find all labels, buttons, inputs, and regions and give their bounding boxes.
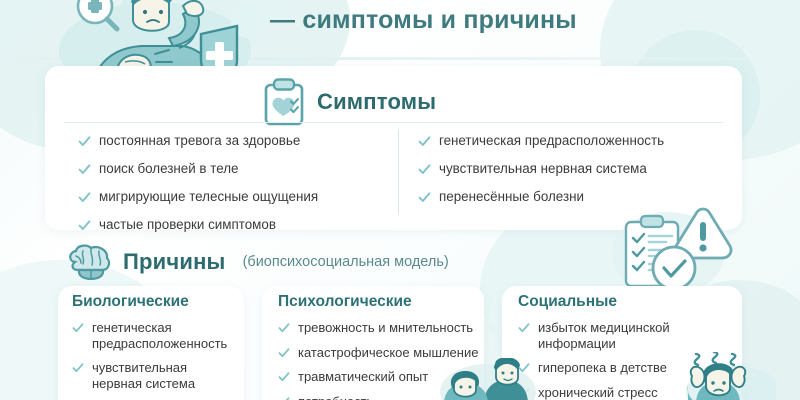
- causes-section-header: Причины (биопсихосоциальная модель): [66, 244, 449, 280]
- list-item: мигрирующие телесные ощущения: [78, 189, 378, 205]
- list-item: чувствительная нервная система: [72, 360, 238, 391]
- list-item-label: генетическая предрасположенность: [439, 133, 664, 149]
- check-icon: [278, 322, 290, 334]
- check-icon: [418, 163, 431, 176]
- check-icon: [72, 322, 84, 334]
- symptoms-column-divider: [398, 130, 399, 214]
- couple-illustration: [432, 358, 542, 400]
- check-icon: [78, 135, 91, 148]
- check-icon: [278, 371, 290, 383]
- infographic-canvas: Симптомы постоянная тревога за здоровье …: [0, 0, 800, 400]
- causes-column-title: Психологические: [278, 293, 483, 311]
- symptoms-left-list: постоянная тревога за здоровье поиск бол…: [78, 133, 378, 245]
- check-icon: [278, 347, 290, 359]
- list-item: тревожность и мнительность: [278, 320, 483, 336]
- list-item-label: поиск болезней в теле: [99, 161, 239, 177]
- check-icon: [78, 163, 91, 176]
- list-item: перенесённые болезни: [418, 189, 718, 205]
- symptoms-heading: Симптомы: [317, 89, 436, 115]
- list-item: частые проверки симптомов: [78, 217, 378, 233]
- clipboard-heart-icon: [262, 78, 306, 126]
- list-item: избыток медицинской информации: [518, 320, 736, 351]
- causes-column-title: Социальные: [518, 293, 736, 311]
- causes-column-title: Биологические: [72, 293, 238, 311]
- list-item-label: травматический опыт: [298, 369, 428, 385]
- symptoms-right-list: генетическая предрасположенность чувстви…: [418, 133, 718, 217]
- list-item-label: перенесённые болезни: [439, 189, 584, 205]
- list-item-label: чувствительная нервная система: [439, 161, 647, 177]
- causes-biological-content: Биологические генетическая предрасположе…: [72, 293, 238, 400]
- list-item-label: тревожность и мнительность: [298, 320, 473, 336]
- list-item-label: чувствительная нервная система: [92, 360, 238, 391]
- check-icon: [78, 191, 91, 204]
- check-icon: [78, 219, 91, 232]
- list-item: чувствительная нервная система: [418, 161, 718, 177]
- list-item: поиск болезней в теле: [78, 161, 378, 177]
- symptoms-section-header: Симптомы: [262, 78, 436, 126]
- symptoms-header-rule: [64, 122, 724, 123]
- list-item: постоянная тревога за здоровье: [78, 133, 378, 149]
- list-item-label: потребность: [298, 394, 373, 400]
- check-icon: [72, 362, 84, 374]
- causes-heading: Причины: [123, 249, 226, 275]
- list-item-label: постоянная тревога за здоровье: [99, 133, 300, 149]
- check-icon: [418, 191, 431, 204]
- list-item-label: мигрирующие телесные ощущения: [99, 189, 318, 205]
- checklist-warning-illustration: [612, 206, 740, 298]
- list-item-label: избыток медицинской информации: [538, 320, 736, 351]
- list-item-label: генетическая предрасположенность: [92, 320, 238, 351]
- list-item-label: гиперопека в детстве: [538, 360, 667, 376]
- list-item-label: частые проверки симптомов: [99, 217, 276, 233]
- list-item: генетическая предрасположенность: [72, 320, 238, 351]
- brain-icon: [66, 244, 112, 280]
- check-icon: [518, 322, 530, 334]
- causes-subheading: (биопсихосоциальная модель): [243, 254, 449, 270]
- page-title: — симптомы и причины: [270, 6, 577, 35]
- check-icon: [278, 396, 290, 400]
- check-icon: [418, 135, 431, 148]
- list-item: генетическая предрасположенность: [418, 133, 718, 149]
- stressed-woman-illustration: [676, 352, 776, 400]
- list-item-label: хронический стресс: [538, 385, 658, 400]
